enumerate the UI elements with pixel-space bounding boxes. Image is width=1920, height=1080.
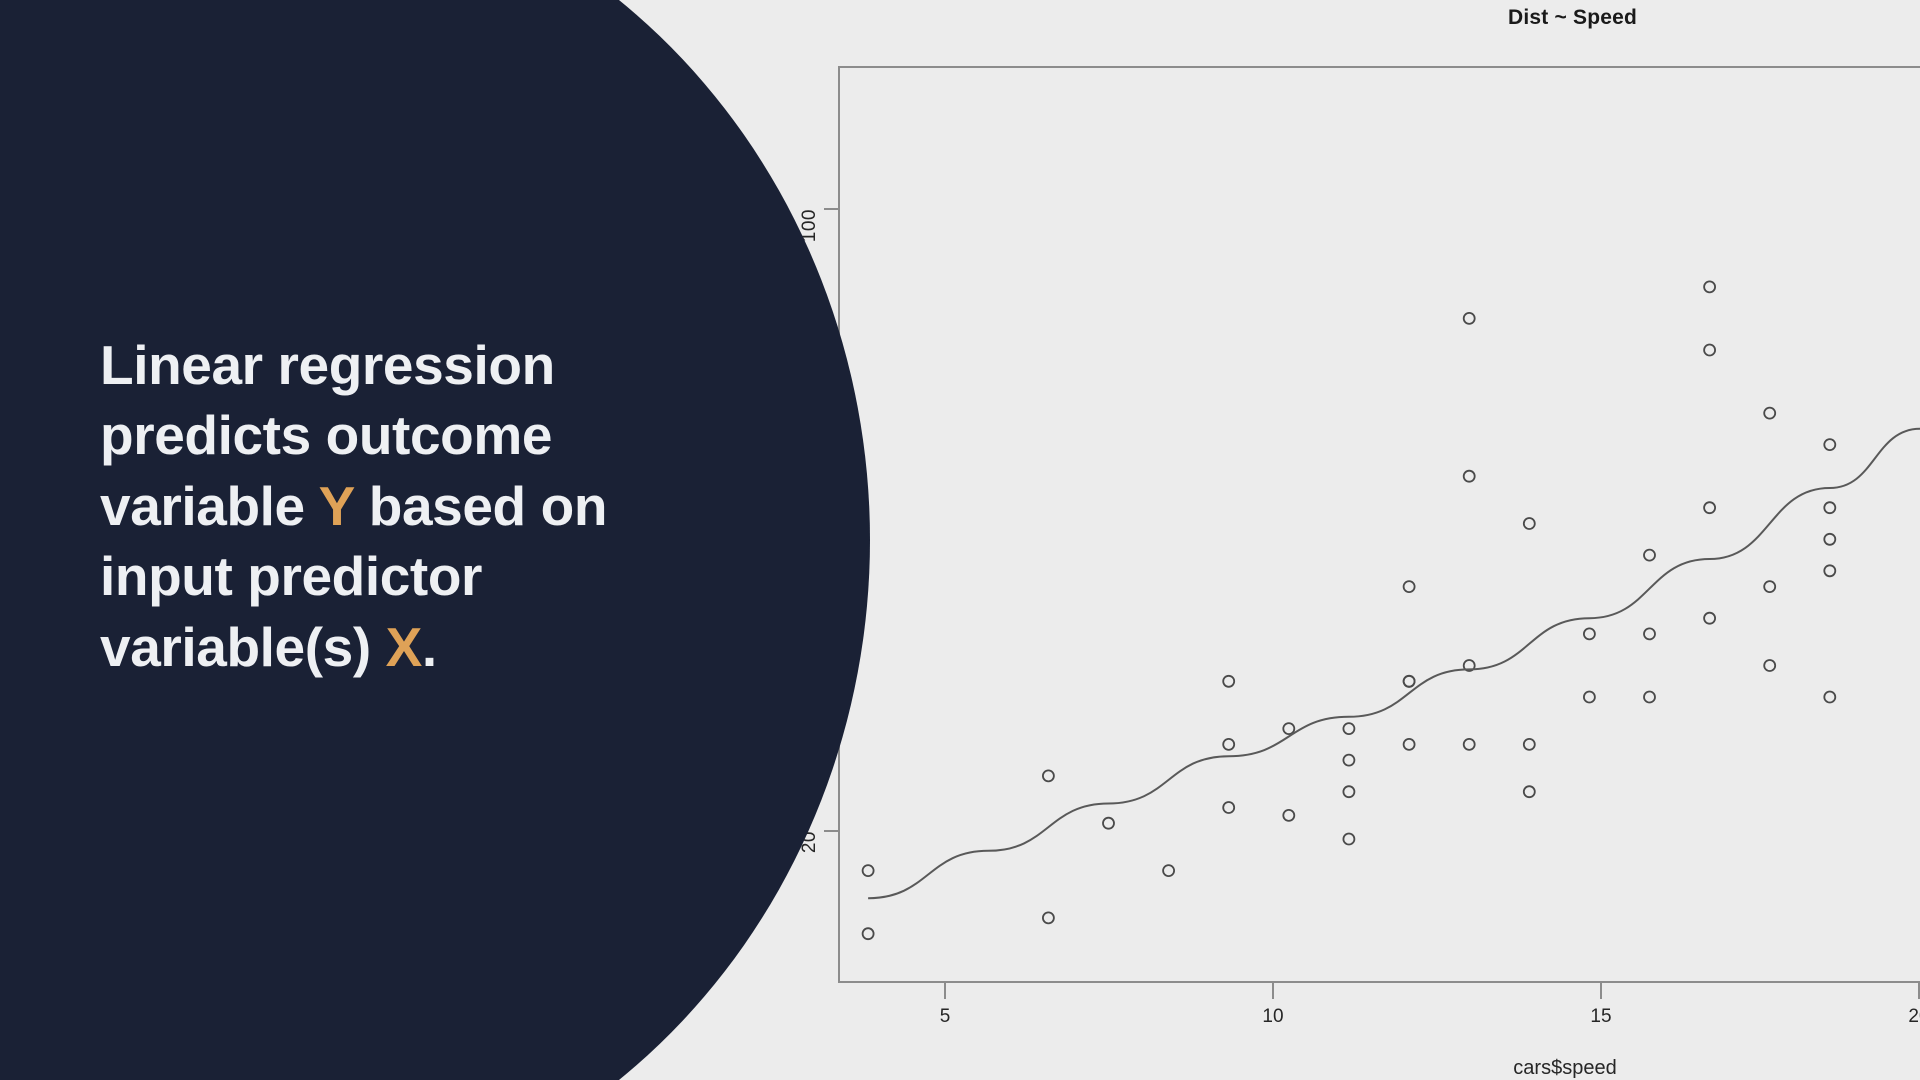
data-point bbox=[1524, 518, 1535, 529]
data-point bbox=[1764, 581, 1775, 592]
data-point bbox=[1283, 723, 1294, 734]
data-point bbox=[1404, 581, 1415, 592]
data-point bbox=[1824, 565, 1835, 576]
data-point bbox=[1163, 865, 1174, 876]
chart-title-text: Dist ~ Speed bbox=[1508, 6, 1637, 30]
data-point bbox=[1464, 313, 1475, 324]
data-point bbox=[1524, 739, 1535, 750]
data-point bbox=[1824, 502, 1835, 513]
data-point bbox=[1704, 281, 1715, 292]
slide-canvas: Dist ~ Speed 100 80 60 40 20 5 10 15 20 … bbox=[0, 0, 1920, 1080]
x-axis-title: cars$speed bbox=[1513, 1057, 1616, 1080]
data-point bbox=[1764, 660, 1775, 671]
x-tick-label-15: 15 bbox=[1590, 1006, 1611, 1028]
y-tick-20 bbox=[824, 830, 839, 832]
data-point bbox=[1644, 550, 1655, 561]
data-point bbox=[1524, 786, 1535, 797]
data-point bbox=[1704, 613, 1715, 624]
x-tick-label-5: 5 bbox=[940, 1006, 951, 1028]
headline-block: Linear regression predicts outcome varia… bbox=[100, 330, 720, 682]
data-point bbox=[1343, 786, 1354, 797]
data-point bbox=[1404, 676, 1415, 687]
x-tick-15 bbox=[1600, 982, 1602, 999]
data-point bbox=[1404, 739, 1415, 750]
data-point bbox=[1343, 723, 1354, 734]
page-title: Linear regression predicts outcome varia… bbox=[100, 330, 720, 682]
data-point bbox=[863, 928, 874, 939]
x-tick-label-20: 20 bbox=[1908, 1006, 1920, 1028]
data-point bbox=[1103, 818, 1114, 829]
data-point bbox=[1704, 502, 1715, 513]
y-tick-100 bbox=[824, 208, 839, 210]
data-point bbox=[1464, 660, 1475, 671]
x-tick-10 bbox=[1272, 982, 1274, 999]
data-point bbox=[1644, 628, 1655, 639]
data-point bbox=[1223, 676, 1234, 687]
x-tick-label-10: 10 bbox=[1262, 1006, 1283, 1028]
x-axis-line bbox=[838, 981, 1920, 983]
data-point bbox=[1043, 912, 1054, 923]
data-point bbox=[863, 865, 874, 876]
data-point bbox=[1704, 345, 1715, 356]
data-point bbox=[1283, 810, 1294, 821]
data-point bbox=[1343, 834, 1354, 845]
data-points bbox=[863, 0, 1920, 939]
headline-segment-3: . bbox=[422, 616, 437, 678]
regression-fit-line bbox=[868, 429, 1920, 898]
x-tick-5 bbox=[944, 982, 946, 999]
data-point bbox=[1043, 770, 1054, 781]
headline-accent-y: Y bbox=[319, 475, 354, 537]
data-point bbox=[1584, 692, 1595, 703]
data-point bbox=[1824, 692, 1835, 703]
data-point bbox=[1464, 739, 1475, 750]
data-point bbox=[1764, 408, 1775, 419]
data-point bbox=[1584, 628, 1595, 639]
headline-panel: Linear regression predicts outcome varia… bbox=[0, 0, 870, 1080]
data-point bbox=[1343, 755, 1354, 766]
headline-accent-x: X bbox=[386, 616, 422, 678]
panel-top-border bbox=[838, 66, 1920, 68]
data-point bbox=[1824, 534, 1835, 545]
data-point bbox=[1644, 692, 1655, 703]
data-point bbox=[1223, 739, 1234, 750]
data-point bbox=[1824, 439, 1835, 450]
data-point bbox=[1404, 676, 1415, 687]
data-point bbox=[1464, 471, 1475, 482]
data-point bbox=[1223, 802, 1234, 813]
